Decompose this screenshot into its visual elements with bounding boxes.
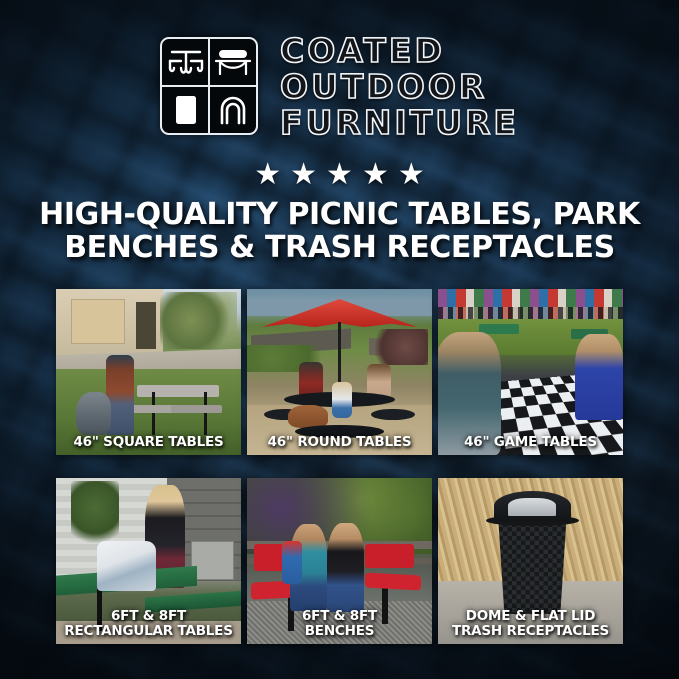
star-icon-2: ★ bbox=[290, 160, 317, 190]
product-caption-trash-receptacles: DOME & FLAT LID TRASH RECEPTACLES bbox=[438, 609, 623, 639]
caption-line: 46" SQUARE TABLES bbox=[59, 435, 238, 450]
product-photo-round-tables bbox=[247, 289, 432, 455]
product-caption-round-tables: 46" ROUND TABLES bbox=[247, 435, 432, 450]
star-rating: ★ ★ ★ ★ ★ bbox=[0, 158, 679, 192]
caption-line: 46" ROUND TABLES bbox=[250, 435, 429, 450]
caption-line: BENCHES bbox=[250, 624, 429, 639]
product-photo-game-tables bbox=[438, 289, 623, 455]
caption-line: 6FT & 8FT bbox=[250, 609, 429, 624]
caption-line: TRASH RECEPTACLES bbox=[441, 624, 620, 639]
logo-icon-grid bbox=[160, 37, 258, 135]
caption-line: RECTANGULAR TABLES bbox=[59, 624, 238, 639]
product-tile-rectangular-tables[interactable]: 6FT & 8FT RECTANGULAR TABLES bbox=[56, 478, 241, 644]
star-icon-1: ★ bbox=[254, 160, 281, 190]
star-icon-3: ★ bbox=[326, 160, 353, 190]
product-tile-benches[interactable]: 6FT & 8FT BENCHES bbox=[247, 478, 432, 644]
product-grid: 46" SQUARE TABLES 46" ROUND TABLES bbox=[56, 289, 623, 644]
caption-line: DOME & FLAT LID bbox=[441, 609, 620, 624]
product-tile-round-tables[interactable]: 46" ROUND TABLES bbox=[247, 289, 432, 455]
trash-receptacle-icon bbox=[161, 85, 210, 134]
product-tile-game-tables[interactable]: 46" GAME TABLES bbox=[438, 289, 623, 455]
brand-wordmark: COATED OUTDOOR FURNITURE bbox=[280, 33, 519, 140]
brand-name-line-1: COATED bbox=[280, 33, 519, 68]
headline-line-2: BENCHES & TRASH RECEPTACLES bbox=[28, 231, 651, 264]
headline-line-1: HIGH-QUALITY PICNIC TABLES, PARK bbox=[28, 198, 651, 231]
headline: HIGH-QUALITY PICNIC TABLES, PARK BENCHES… bbox=[28, 198, 651, 264]
star-icon-4: ★ bbox=[362, 160, 389, 190]
product-tile-trash-receptacles[interactable]: DOME & FLAT LID TRASH RECEPTACLES bbox=[438, 478, 623, 644]
brand-name-line-3: FURNITURE bbox=[280, 105, 519, 140]
brand-logo: COATED OUTDOOR FURNITURE bbox=[0, 24, 679, 148]
bench-icon bbox=[208, 38, 257, 87]
product-caption-square-tables: 46" SQUARE TABLES bbox=[56, 435, 241, 450]
product-caption-benches: 6FT & 8FT BENCHES bbox=[247, 609, 432, 639]
product-caption-rectangular-tables: 6FT & 8FT RECTANGULAR TABLES bbox=[56, 609, 241, 639]
caption-line: 6FT & 8FT bbox=[59, 609, 238, 624]
product-tile-square-tables[interactable]: 46" SQUARE TABLES bbox=[56, 289, 241, 455]
picnic-table-icon bbox=[161, 38, 210, 87]
product-caption-game-tables: 46" GAME TABLES bbox=[438, 435, 623, 450]
product-photo-square-tables bbox=[56, 289, 241, 455]
arch-bike-rack-icon bbox=[208, 85, 257, 134]
star-icon-5: ★ bbox=[398, 160, 425, 190]
promo-banner: COATED OUTDOOR FURNITURE ★ ★ ★ ★ ★ HIGH-… bbox=[0, 0, 679, 679]
caption-line: 46" GAME TABLES bbox=[441, 435, 620, 450]
brand-name-line-2: OUTDOOR bbox=[280, 69, 519, 104]
